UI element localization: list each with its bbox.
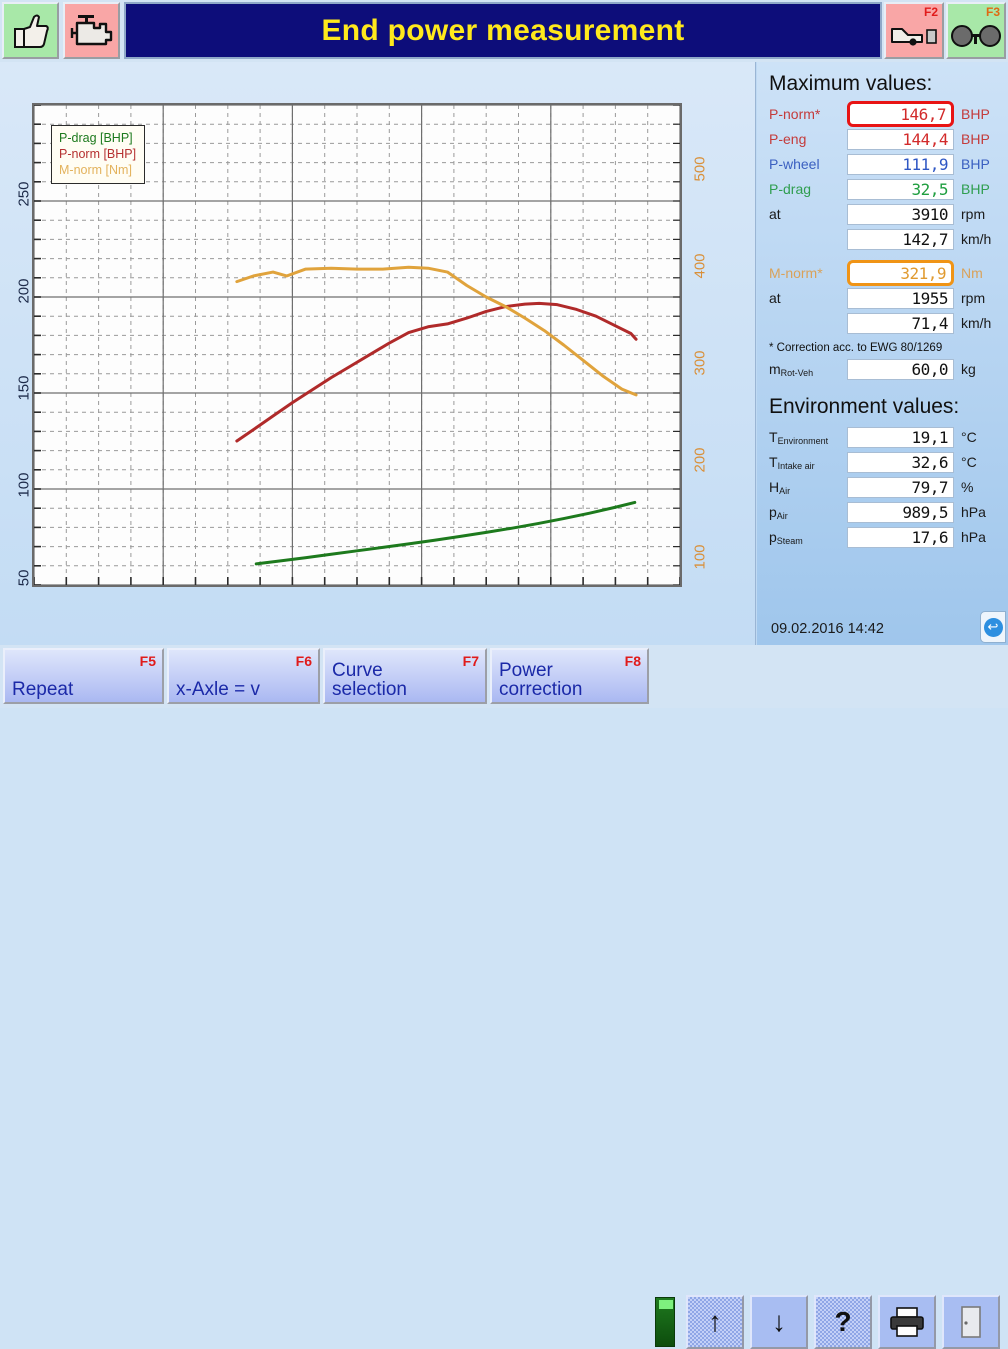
plot-area[interactable]: P-drag [BHP] P-norm [BHP] M-norm [Nm] (32, 103, 682, 587)
f3-key-label: F3 (986, 5, 1000, 19)
chart-pane: 250 200 150 100 50 0 500 400 300 200 100… (0, 62, 756, 645)
value-p-steam: 17,6 (847, 527, 954, 548)
value-power-speed: 142,7 (847, 229, 954, 250)
row-p-wheel: P-wheel 111,9 BHP (769, 152, 1000, 176)
exit-button[interactable] (942, 1295, 1000, 1349)
unit-t-environment: °C (954, 429, 1000, 445)
legend-item-p-norm: P-norm [BHP] (59, 146, 136, 162)
unit-h-air: % (954, 479, 1000, 495)
arrow-down-icon: ↓ (772, 1308, 786, 1336)
correction-note: * Correction acc. to EWG 80/1269 (769, 342, 1000, 354)
y2-axis-tick-400: 400 (692, 253, 709, 278)
power-correction-fkey: F8 (625, 653, 641, 669)
timestamp: 09.02.2016 14:42 (771, 621, 884, 637)
y2-axis-tick-200: 200 (692, 447, 709, 472)
x-axle-fkey: F6 (296, 653, 312, 669)
value-p-wheel: 111,9 (847, 154, 954, 175)
chart-legend: P-drag [BHP] P-norm [BHP] M-norm [Nm] (51, 125, 145, 184)
label-power-at: at (769, 206, 847, 222)
label-h-air: HAir (769, 479, 847, 495)
value-h-air: 79,7 (847, 477, 954, 498)
back-arrow-icon: ↩ (984, 618, 1003, 637)
y-axis-tick-150: 150 (16, 376, 33, 422)
label-rot-mass: mRot-Veh (769, 361, 847, 377)
y2-axis-tick-300: 300 (692, 350, 709, 375)
curve-selection-fkey: F7 (463, 653, 479, 669)
curve-selection-button[interactable]: F7 Curve selection (323, 648, 487, 704)
value-p-eng: 144,4 (847, 129, 954, 150)
row-torque-speed: 71,4 km/h (769, 311, 1000, 335)
legend-item-p-drag: P-drag [BHP] (59, 130, 136, 146)
car-icon (889, 23, 939, 49)
window-title-bar: End power measurement (124, 2, 882, 59)
unit-torque-rpm: rpm (954, 290, 1000, 306)
value-t-environment: 19,1 (847, 427, 954, 448)
y-axis-tick-200: 200 (16, 279, 33, 325)
row-m-norm: M-norm* 321,9 Nm (769, 261, 1000, 285)
unit-power-rpm: rpm (954, 206, 1000, 222)
scroll-down-button[interactable]: ↓ (750, 1295, 808, 1349)
printer-icon (888, 1306, 926, 1338)
roller-axle-icon (950, 23, 1002, 49)
y-axis-tick-250: 250 (16, 182, 33, 228)
help-icon: ? (834, 1308, 851, 1336)
power-correction-label: Power correction (499, 661, 582, 699)
x-axle-button[interactable]: F6 x-Axle = v (167, 648, 320, 704)
value-rot-mass: 60,0 (847, 359, 954, 380)
value-m-norm: 321,9 (847, 260, 954, 286)
row-p-norm: P-norm* 146,7 BHP (769, 102, 1000, 126)
header-bar: End power measurement F2 F3 (0, 0, 1008, 62)
environment-values-heading: Environment values: (769, 395, 1000, 419)
value-torque-rpm: 1955 (847, 288, 954, 309)
power-correction-button[interactable]: F8 Power correction (490, 648, 649, 704)
unit-p-air: hPa (954, 504, 1000, 520)
label-p-air: pAir (769, 504, 847, 520)
row-t-intake-air: TIntake air 32,6 °C (769, 450, 1000, 474)
label-p-eng: P-eng (769, 131, 847, 147)
unit-p-drag: BHP (954, 181, 1000, 197)
label-p-norm: P-norm* (769, 106, 847, 122)
label-t-intake-air: TIntake air (769, 454, 847, 470)
f2-key-label: F2 (924, 5, 938, 19)
page-title: End power measurement (321, 14, 684, 48)
unit-t-intake-air: °C (954, 454, 1000, 470)
label-t-environment: TEnvironment (769, 429, 847, 445)
unit-p-steam: hPa (954, 529, 1000, 545)
row-power-rpm: at 3910 rpm (769, 202, 1000, 226)
unit-power-speed: km/h (954, 231, 1000, 247)
engine-button[interactable] (63, 2, 120, 59)
x-axle-label: x-Axle = v (176, 680, 260, 699)
values-panel: Maximum values: P-norm* 146,7 BHP P-eng … (757, 62, 1008, 645)
accept-button[interactable] (2, 2, 59, 59)
function-toolbar: F5 Repeat F6 x-Axle = v F7 Curve selecti… (0, 645, 1008, 708)
y-axis-tick-50: 50 (16, 570, 33, 609)
row-h-air: HAir 79,7 % (769, 475, 1000, 499)
y-axis-tick-100: 100 (16, 473, 33, 519)
main-area: 250 200 150 100 50 0 500 400 300 200 100… (0, 62, 1008, 645)
roller-button[interactable]: F3 (946, 2, 1006, 59)
row-p-drag: P-drag 32,5 BHP (769, 177, 1000, 201)
unit-rot-mass: kg (954, 361, 1000, 377)
arrow-up-icon: ↑ (708, 1308, 722, 1336)
repeat-label: Repeat (12, 680, 73, 699)
repeat-button[interactable]: F5 Repeat (3, 648, 164, 704)
y2-axis-tick-500: 500 (692, 156, 709, 181)
label-p-drag: P-drag (769, 181, 847, 197)
vehicle-button[interactable]: F2 (884, 2, 944, 59)
label-torque-at: at (769, 290, 847, 306)
status-led-indicator (655, 1297, 675, 1347)
row-p-steam: pSteam 17,6 hPa (769, 525, 1000, 549)
unit-torque-speed: km/h (954, 315, 1000, 331)
label-p-steam: pSteam (769, 529, 847, 545)
y2-axis-tick-100: 100 (692, 544, 709, 569)
curve-selection-label: Curve selection (332, 661, 407, 699)
unit-p-eng: BHP (954, 131, 1000, 147)
help-button[interactable]: ? (814, 1295, 872, 1349)
row-p-air: pAir 989,5 hPa (769, 500, 1000, 524)
unit-p-norm: BHP (954, 106, 1000, 122)
label-m-norm: M-norm* (769, 265, 847, 281)
row-torque-rpm: at 1955 rpm (769, 286, 1000, 310)
engine-icon (70, 14, 114, 48)
value-p-norm: 146,7 (847, 101, 954, 127)
value-torque-speed: 71,4 (847, 313, 954, 334)
unit-p-wheel: BHP (954, 156, 1000, 172)
thumbs-up-icon (12, 13, 50, 49)
value-p-air: 989,5 (847, 502, 954, 523)
maximum-values-heading: Maximum values: (769, 72, 1000, 96)
repeat-fkey: F5 (140, 653, 156, 669)
value-p-drag: 32,5 (847, 179, 954, 200)
unit-m-norm: Nm (954, 265, 1000, 281)
back-tab-button[interactable]: ↩ (980, 611, 1006, 643)
value-t-intake-air: 32,6 (847, 452, 954, 473)
row-t-environment: TEnvironment 19,1 °C (769, 425, 1000, 449)
row-power-speed: 142,7 km/h (769, 227, 1000, 251)
value-power-rpm: 3910 (847, 204, 954, 225)
label-p-wheel: P-wheel (769, 156, 847, 172)
legend-item-m-norm: M-norm [Nm] (59, 162, 136, 178)
scroll-up-button[interactable]: ↑ (686, 1295, 744, 1349)
print-button[interactable] (878, 1295, 936, 1349)
row-rot-mass: mRot-Veh 60,0 kg (769, 357, 1000, 381)
row-p-eng: P-eng 144,4 BHP (769, 127, 1000, 151)
exit-door-icon (960, 1305, 982, 1339)
